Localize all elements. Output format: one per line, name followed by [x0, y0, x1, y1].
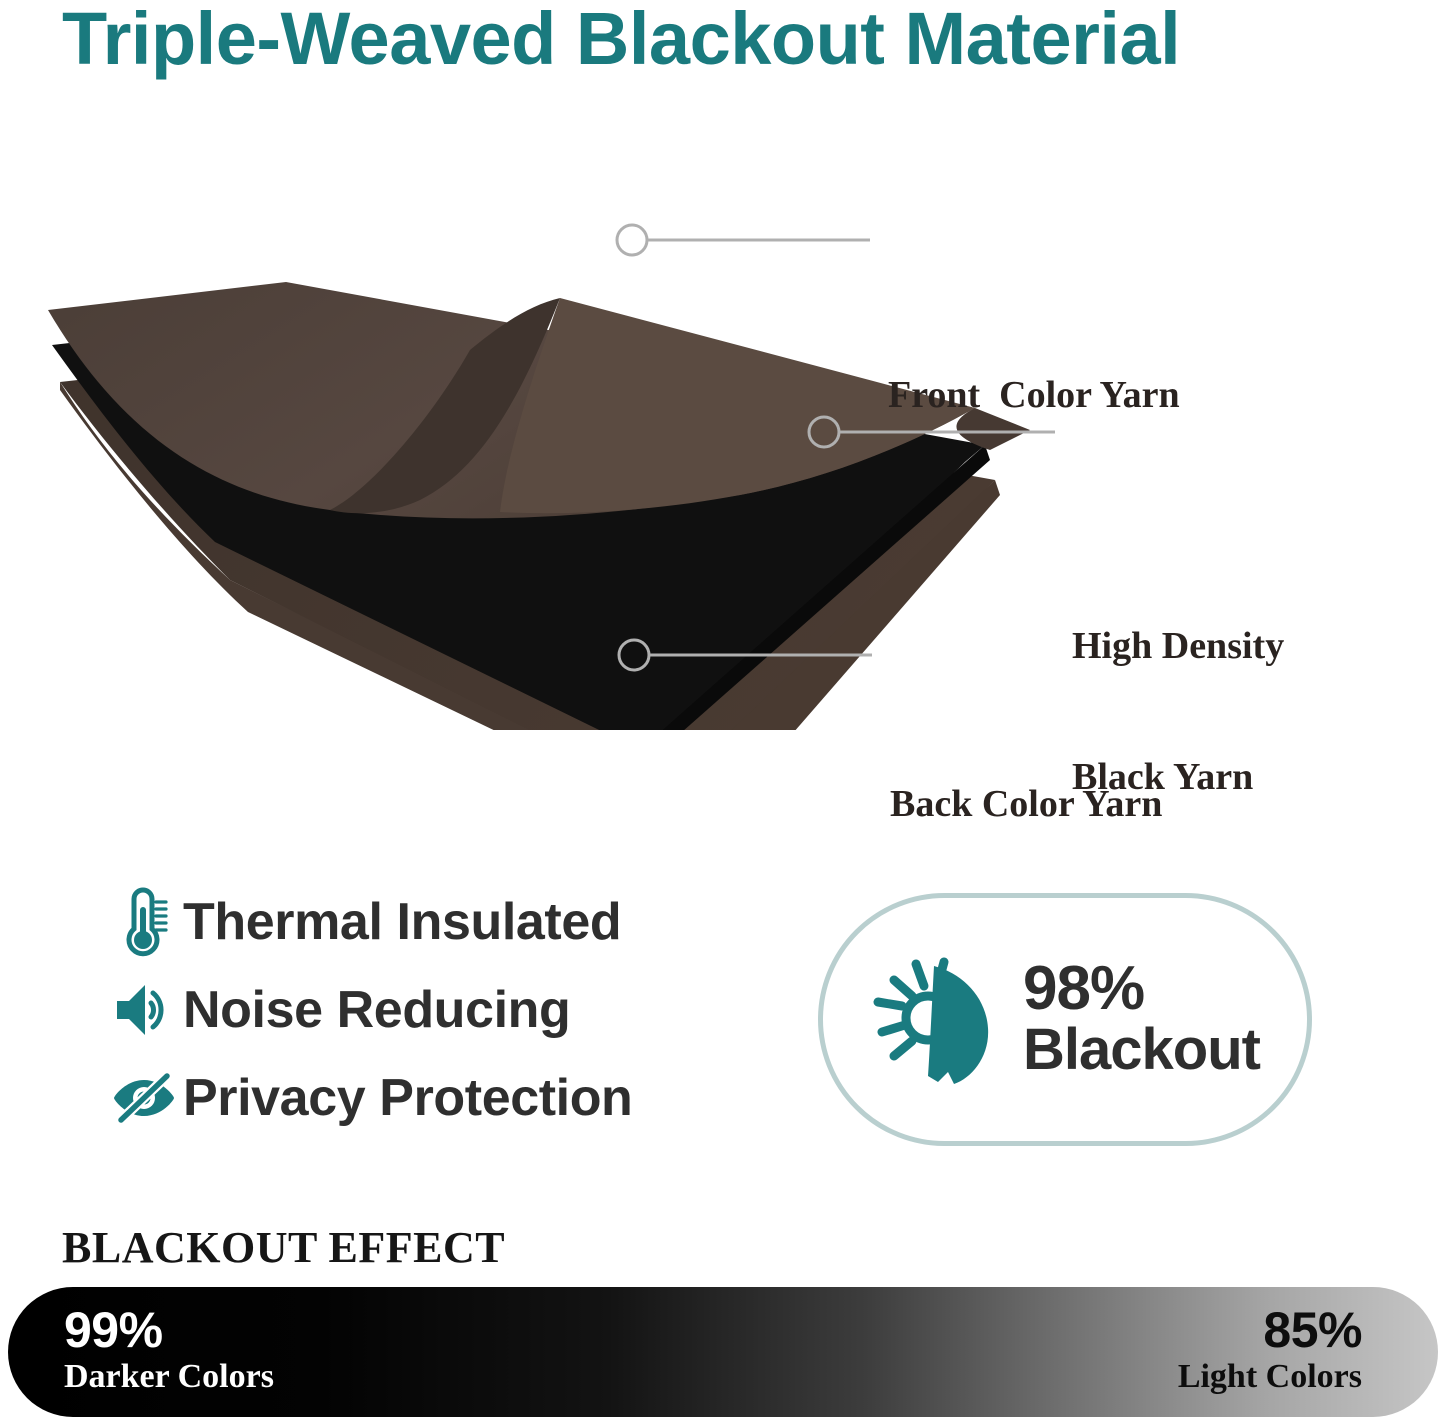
effect-right-percent: 85%	[1178, 1303, 1362, 1357]
blackout-badge: 98% Blackout	[818, 893, 1312, 1146]
badge-percent: 98%	[1023, 958, 1260, 1020]
page-title: Triple-Weaved Blackout Material	[62, 0, 1402, 82]
callout-label-high-density-black-yarn: High Density Black Yarn	[1072, 538, 1284, 888]
feature-label: Noise Reducing	[183, 980, 570, 1040]
feature-item-noise-reducing: Noise Reducing	[105, 966, 745, 1054]
fabric-layers-diagram: Front Color Yarn High Density Black Yarn…	[0, 150, 1445, 730]
effect-left-percent: 99%	[64, 1303, 274, 1357]
effect-right-caption: Light Colors	[1178, 1357, 1362, 1396]
callout-marker-front	[617, 225, 647, 255]
eye-slash-icon	[105, 1070, 183, 1126]
feature-label: Privacy Protection	[183, 1068, 632, 1128]
feature-item-thermal-insulated: Thermal Insulated	[105, 878, 745, 966]
callout-label-front-color-yarn: Front Color Yarn	[888, 374, 1180, 418]
callout-label-line: High Density	[1072, 625, 1284, 669]
effect-left-caption: Darker Colors	[64, 1357, 274, 1396]
badge-text-block: 98% Blackout	[1023, 958, 1260, 1081]
features-list: Thermal Insulated Noise Reducing Privacy…	[105, 878, 745, 1142]
blackout-effect-gradient-bar: 99% Darker Colors 85% Light Colors	[8, 1287, 1438, 1417]
effect-left-stat: 99% Darker Colors	[64, 1303, 274, 1396]
blackout-effect-heading: BLACKOUT EFFECT	[62, 1222, 505, 1273]
sun-blocked-icon	[823, 946, 1023, 1094]
badge-word: Blackout	[1023, 1020, 1260, 1081]
speaker-icon	[105, 981, 183, 1039]
callout-label-back-color-yarn: Back Color Yarn	[890, 783, 1162, 827]
feature-item-privacy-protection: Privacy Protection	[105, 1054, 745, 1142]
effect-right-stat: 85% Light Colors	[1178, 1303, 1362, 1396]
thermometer-icon	[105, 887, 183, 957]
feature-label: Thermal Insulated	[183, 892, 621, 952]
